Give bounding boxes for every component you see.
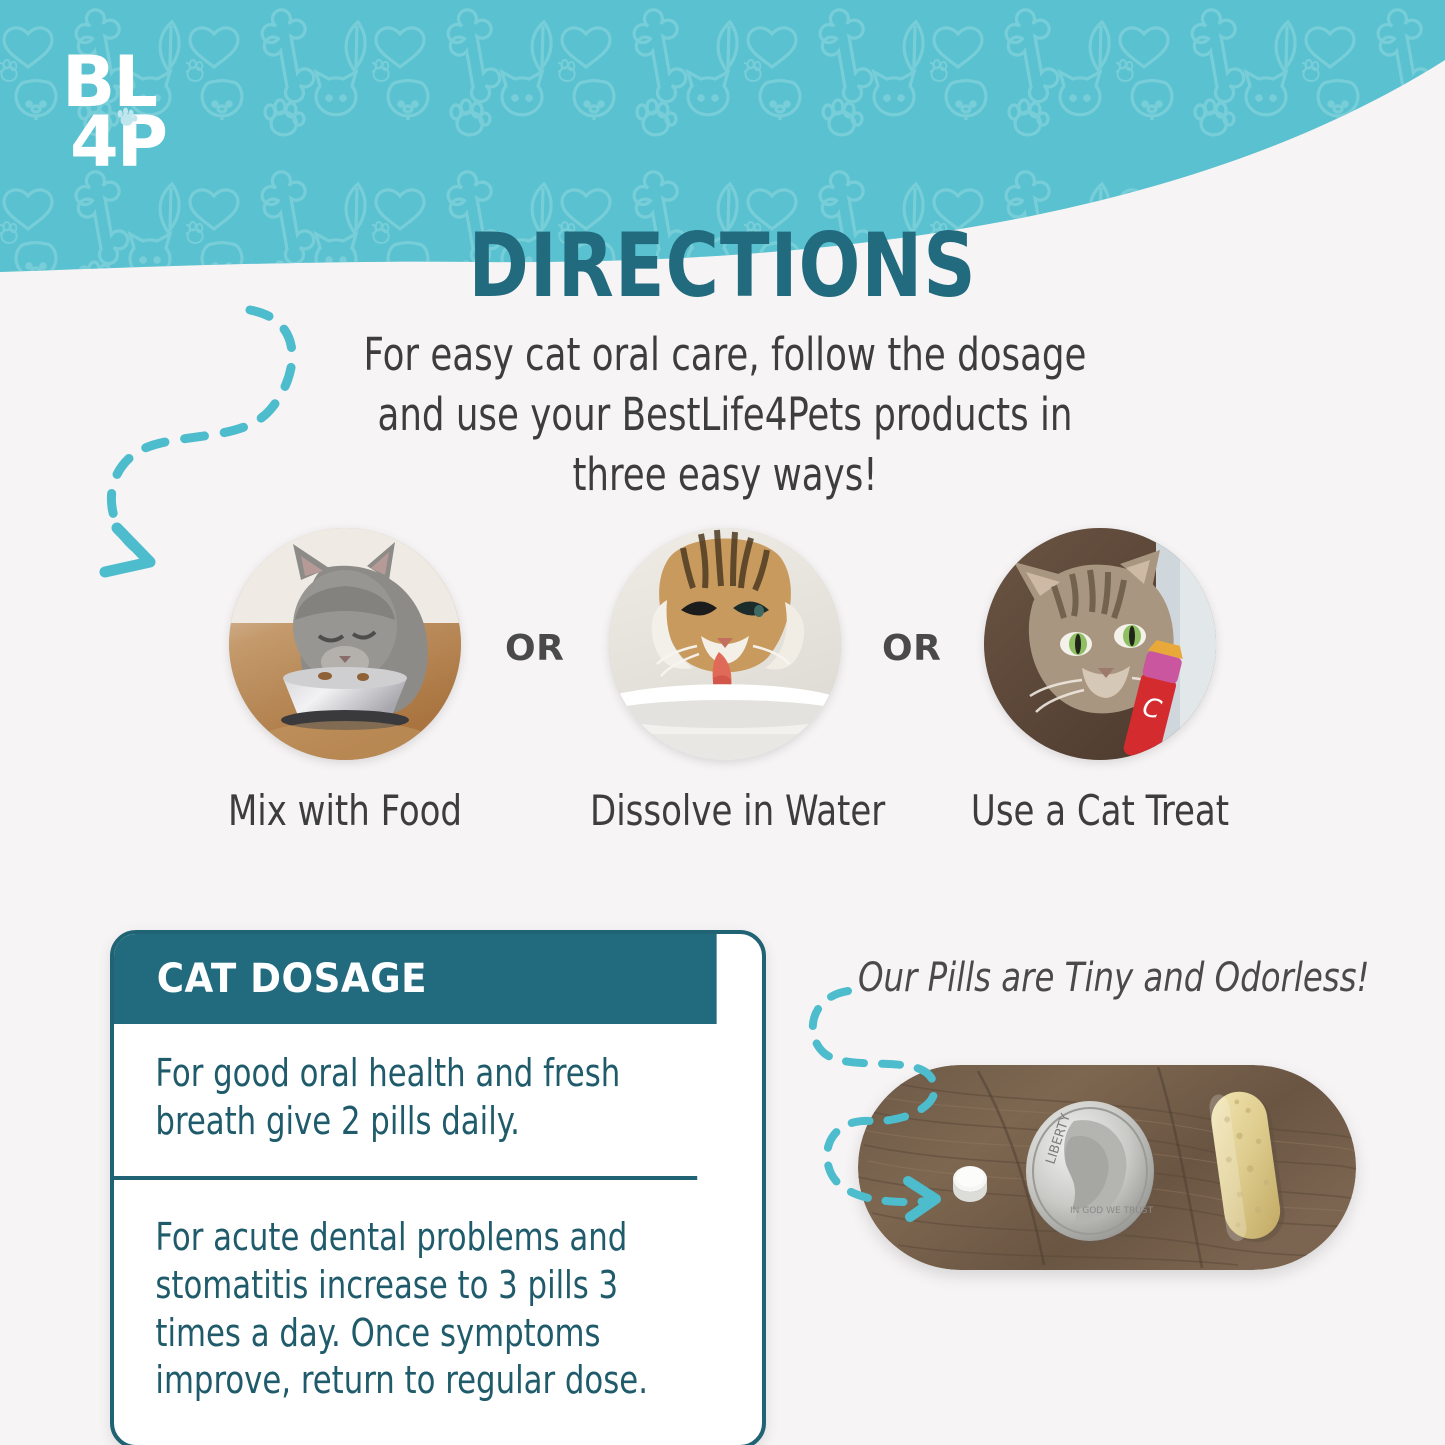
cat-licking-water-photo [609,528,841,760]
svg-text:IN GOD WE TRUST: IN GOD WE TRUST [1070,1206,1154,1216]
pills-on-wood-board-photo: LIBERTY IN GOD WE TRUST [858,1065,1356,1270]
page-subtitle: For easy cat oral care, follow the dosag… [342,325,1108,505]
method-label: Mix with Food [210,786,480,835]
infographic-page: BL 4P DIRECTIONS For easy cat oral care,… [0,0,1445,1445]
method-dissolve-in-water[interactable]: Dissolve in Water [575,528,875,835]
dosage-row: For good oral health and fresh breath gi… [114,1024,697,1176]
method-separator-1: OR [505,628,564,669]
brand-logo: BL 4P [62,44,172,174]
method-mix-with-food[interactable]: Mix with Food [195,528,495,835]
pills-caption: Our Pills are Tiny and Odorless! [858,955,1369,1001]
small-white-pill [953,1166,987,1202]
dosage-row: For acute dental problems and stomatitis… [114,1176,697,1445]
cat-dosage-card: CAT DOSAGE For good oral health and fres… [110,930,766,1445]
method-label: Dissolve in Water [590,786,860,835]
cat-with-treat-tube-photo: C [984,528,1216,760]
methods-row: Mix with Food OR [0,528,1445,848]
cat-eating-from-bowl-photo [229,528,461,760]
dosage-card-heading: CAT DOSAGE [114,934,717,1024]
method-label: Use a Cat Treat [965,786,1235,835]
method-use-a-cat-treat[interactable]: C Use a Cat Treat [950,528,1250,835]
method-separator-2: OR [882,628,941,669]
